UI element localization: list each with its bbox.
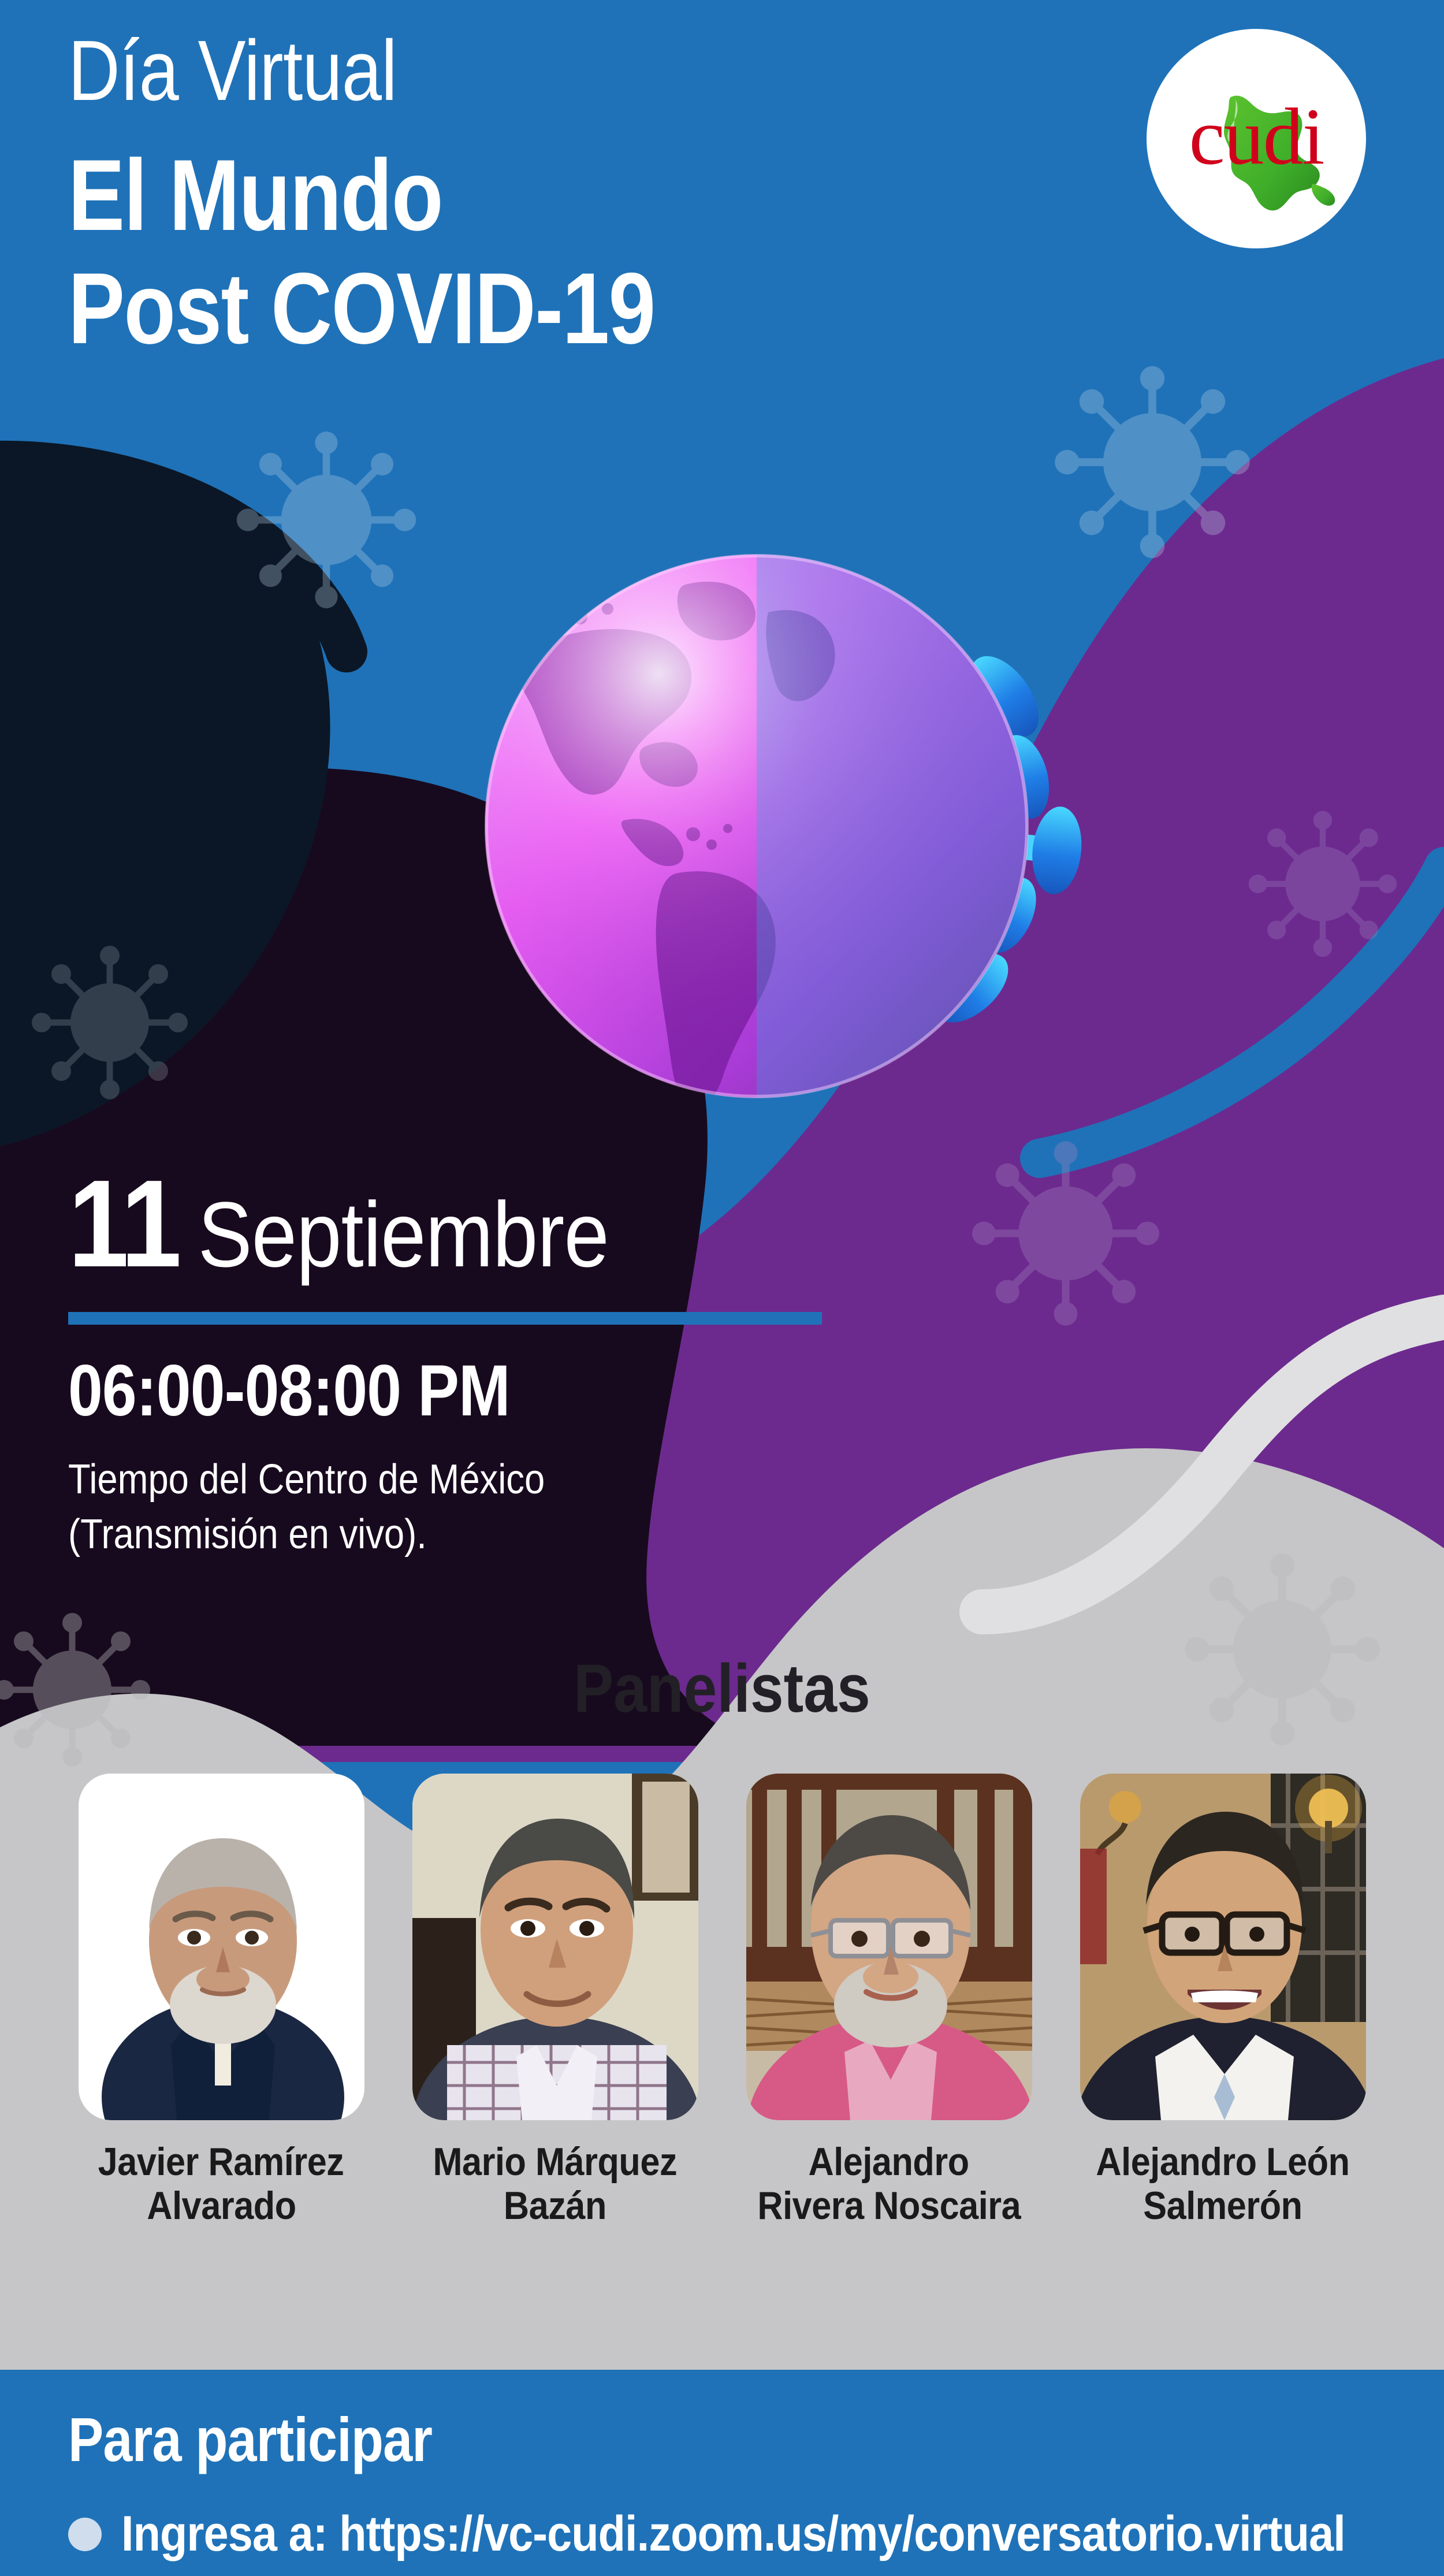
footer-bar: Para participar Ingresa a: https://vc-cu… (0, 2370, 1444, 2576)
date-row: 11 Septiembre (68, 1161, 780, 1285)
footer-heading: Para participar (68, 2403, 496, 2475)
panelists-heading-label: Panelistas (574, 1649, 870, 1728)
page-title: El Mundo Post COVID-19 (68, 139, 893, 366)
panelist-name-line-1: Alejandro (809, 2140, 969, 2184)
cudi-logo[interactable]: cudi (1147, 29, 1366, 248)
panelist-name: Mario Márquez Bazán (393, 2140, 717, 2228)
virus-icon (32, 946, 188, 1099)
kicker-text: Día Virtual (68, 28, 893, 115)
panelist-photo (79, 1774, 364, 2120)
footer-heading-label: Para participar (68, 2403, 432, 2475)
virus-icon (237, 432, 416, 608)
bullet-dot-icon (68, 2518, 102, 2551)
title-line-1: El Mundo (68, 139, 442, 252)
virus-icon (1055, 366, 1250, 559)
timezone-line-1: Tiempo del Centro de México (68, 1452, 780, 1507)
virus-icon (1249, 811, 1397, 957)
panelist-name-line-1: Javier Ramírez (98, 2140, 344, 2184)
panelists-heading: Panelistas (0, 1649, 1444, 1728)
virus-icon (972, 1141, 1159, 1325)
poster-canvas: Día Virtual El Mundo Post COVID-19 cudi … (0, 0, 1444, 2576)
event-date-block: 11 Septiembre 06:00-08:00 PM Tiempo del … (68, 1161, 877, 1562)
footer-link-row[interactable]: Ingresa a: https://vc-cudi.zoom.us/my/co… (68, 2506, 1444, 2563)
panelist-card: Mario Márquez Bazán (402, 1774, 708, 2228)
panelist-name-line-2: Bazán (504, 2184, 606, 2228)
panelist-name-line-1: Mario Márquez (433, 2140, 678, 2184)
logo-wordmark: cudi (1189, 90, 1323, 183)
panelist-name: Alejandro Rivera Noscaira (727, 2140, 1051, 2228)
panelist-name-line-1: Alejandro León (1096, 2140, 1349, 2184)
date-divider (68, 1312, 822, 1325)
event-month: Septiembre (198, 1188, 609, 1281)
panelist-card: Alejandro León Salmerón (1070, 1774, 1376, 2228)
title-line-2: Post COVID-19 (68, 252, 893, 366)
panelist-name-line-2: Salmerón (1143, 2184, 1302, 2228)
panelist-card: Alejandro Rivera Noscaira (736, 1774, 1042, 2228)
panelist-photo (1080, 1774, 1366, 2120)
panelist-name: Alejandro León Salmerón (1061, 2140, 1385, 2228)
event-day: 11 (68, 1161, 180, 1285)
panelists-grid: Javier Ramírez Alvarado (0, 1774, 1444, 2228)
panelist-name: Javier Ramírez Alvarado (59, 2140, 383, 2228)
panelist-name-line-2: Alvarado (147, 2184, 296, 2228)
event-timezone: Tiempo del Centro de México (Transmisión… (68, 1452, 780, 1562)
panelist-name-line-2: Rivera Noscaira (757, 2184, 1021, 2228)
panelist-photo (746, 1774, 1032, 2120)
panelist-card: Javier Ramírez Alvarado (68, 1774, 374, 2228)
panelist-photo (412, 1774, 698, 2120)
event-time: 06:00-08:00 PM (68, 1355, 764, 1427)
join-link[interactable]: Ingresa a: https://vc-cudi.zoom.us/my/co… (121, 2506, 1345, 2563)
timezone-line-2: (Transmisión en vivo). (68, 1507, 780, 1562)
header-text-block: Día Virtual El Mundo Post COVID-19 (68, 28, 1050, 366)
